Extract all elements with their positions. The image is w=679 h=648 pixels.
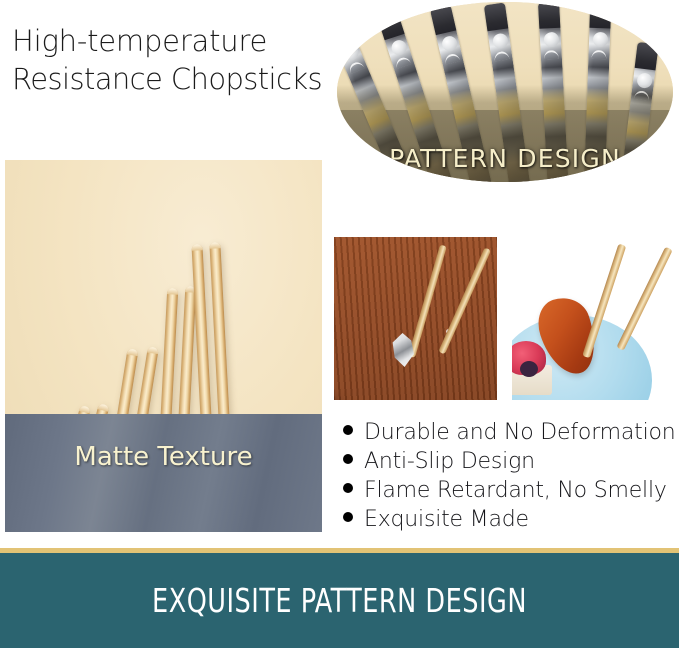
chopstick-bead bbox=[440, 35, 458, 53]
bullet-icon bbox=[343, 425, 353, 435]
bullet-icon bbox=[343, 454, 353, 464]
food-on-plate-photo bbox=[512, 237, 675, 400]
feature-list: Durable and No Deformation Anti-Slip Des… bbox=[343, 418, 673, 534]
chopstick-cap bbox=[538, 2, 560, 29]
pattern-design-caption: PATTERN DESIGN bbox=[337, 144, 673, 173]
page-title-line-1: High-temperature bbox=[12, 22, 342, 60]
bullet-icon bbox=[343, 512, 353, 522]
chopstick-bead bbox=[543, 32, 559, 48]
chopstick-wave-mark bbox=[634, 90, 650, 101]
chopstick-bead bbox=[636, 72, 653, 89]
banner-title: EXQUISITE PATTERN DESIGN bbox=[48, 581, 632, 620]
list-item: Anti-Slip Design bbox=[343, 447, 673, 476]
pattern-design-photo: PATTERN DESIGN bbox=[337, 2, 673, 182]
chopstick-cap bbox=[484, 3, 508, 32]
bullet-icon bbox=[343, 483, 353, 493]
chopstick-wave-mark bbox=[494, 51, 510, 62]
feature-label: Durable and No Deformation bbox=[364, 418, 676, 447]
chopstick-bead bbox=[592, 32, 608, 48]
chopstick-wave-mark bbox=[444, 52, 461, 64]
chopstick-wave-mark bbox=[591, 50, 606, 60]
crystal-on-wood-photo bbox=[334, 237, 497, 400]
chopstick-bead bbox=[492, 33, 509, 50]
chopstick-bead bbox=[389, 38, 408, 57]
feature-label: Flame Retardant, No Smelly bbox=[364, 476, 667, 505]
matte-texture-band: Matte Texture bbox=[5, 414, 322, 532]
chopstick-cap bbox=[635, 42, 659, 70]
list-item: Durable and No Deformation bbox=[343, 418, 673, 447]
chopstick-bead bbox=[341, 43, 361, 63]
chopstick-wave-mark bbox=[544, 50, 559, 60]
wooden-table-rim bbox=[334, 237, 497, 400]
chopstick bbox=[616, 247, 672, 351]
list-item: Exquisite Made bbox=[343, 505, 673, 534]
feature-label: Exquisite Made bbox=[364, 505, 529, 534]
bottom-banner: EXQUISITE PATTERN DESIGN bbox=[0, 553, 679, 648]
chopstick-cap bbox=[589, 2, 611, 28]
bamboo-chopsticks-photo: Matte Texture bbox=[5, 160, 322, 532]
chopstick-wave-mark bbox=[394, 56, 411, 69]
page-title-line-2: Resistance Chopsticks bbox=[12, 60, 342, 98]
matte-texture-label: Matte Texture bbox=[5, 442, 322, 472]
feature-label: Anti-Slip Design bbox=[364, 447, 535, 476]
blueberry bbox=[520, 361, 538, 377]
page-title: High-temperature Resistance Chopsticks bbox=[12, 22, 342, 98]
chopstick-wave-mark bbox=[347, 60, 364, 74]
list-item: Flame Retardant, No Smelly bbox=[343, 476, 673, 505]
